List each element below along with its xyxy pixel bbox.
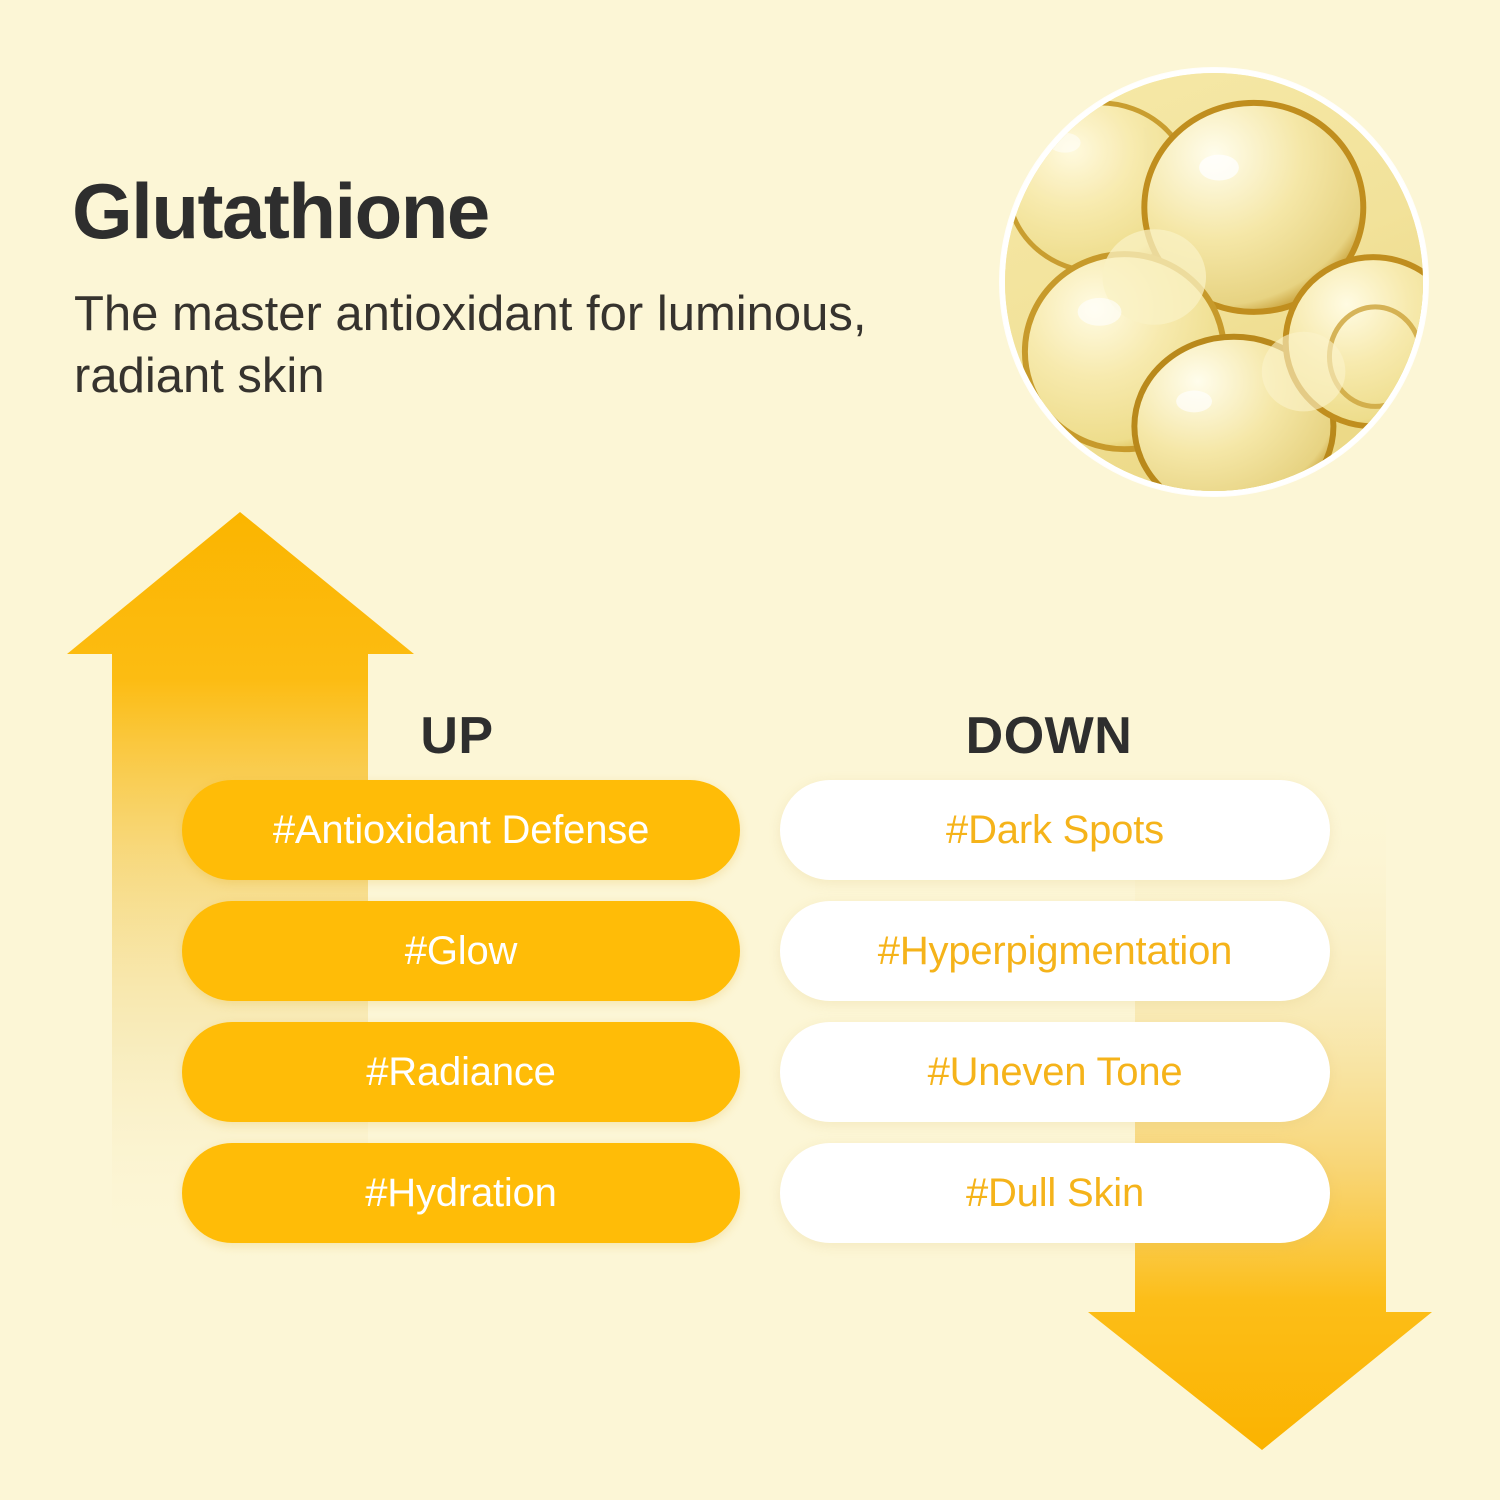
list-item[interactable]: #Hydration [182,1143,740,1243]
list-item[interactable]: #Dark Spots [780,780,1330,880]
golden-serum-droplets-photo [1005,73,1423,491]
column-up: UP #Antioxidant Defense #Glow #Radiance … [182,706,740,1264]
column-down-heading: DOWN [774,706,1324,780]
infographic-canvas: Glutathione The master antioxidant for l… [0,0,1500,1500]
column-down: DOWN #Dark Spots #Hyperpigmentation #Une… [780,706,1330,1264]
list-item[interactable]: #Dull Skin [780,1143,1330,1243]
column-up-heading: UP [178,706,736,780]
list-item[interactable]: #Radiance [182,1022,740,1122]
list-item[interactable]: #Uneven Tone [780,1022,1330,1122]
page-subtitle: The master antioxidant for luminous, rad… [74,284,874,407]
list-item[interactable]: #Antioxidant Defense [182,780,740,880]
list-item[interactable]: #Hyperpigmentation [780,901,1330,1001]
product-photo-frame [1000,68,1428,496]
page-title: Glutathione [72,172,489,250]
list-item[interactable]: #Glow [182,901,740,1001]
